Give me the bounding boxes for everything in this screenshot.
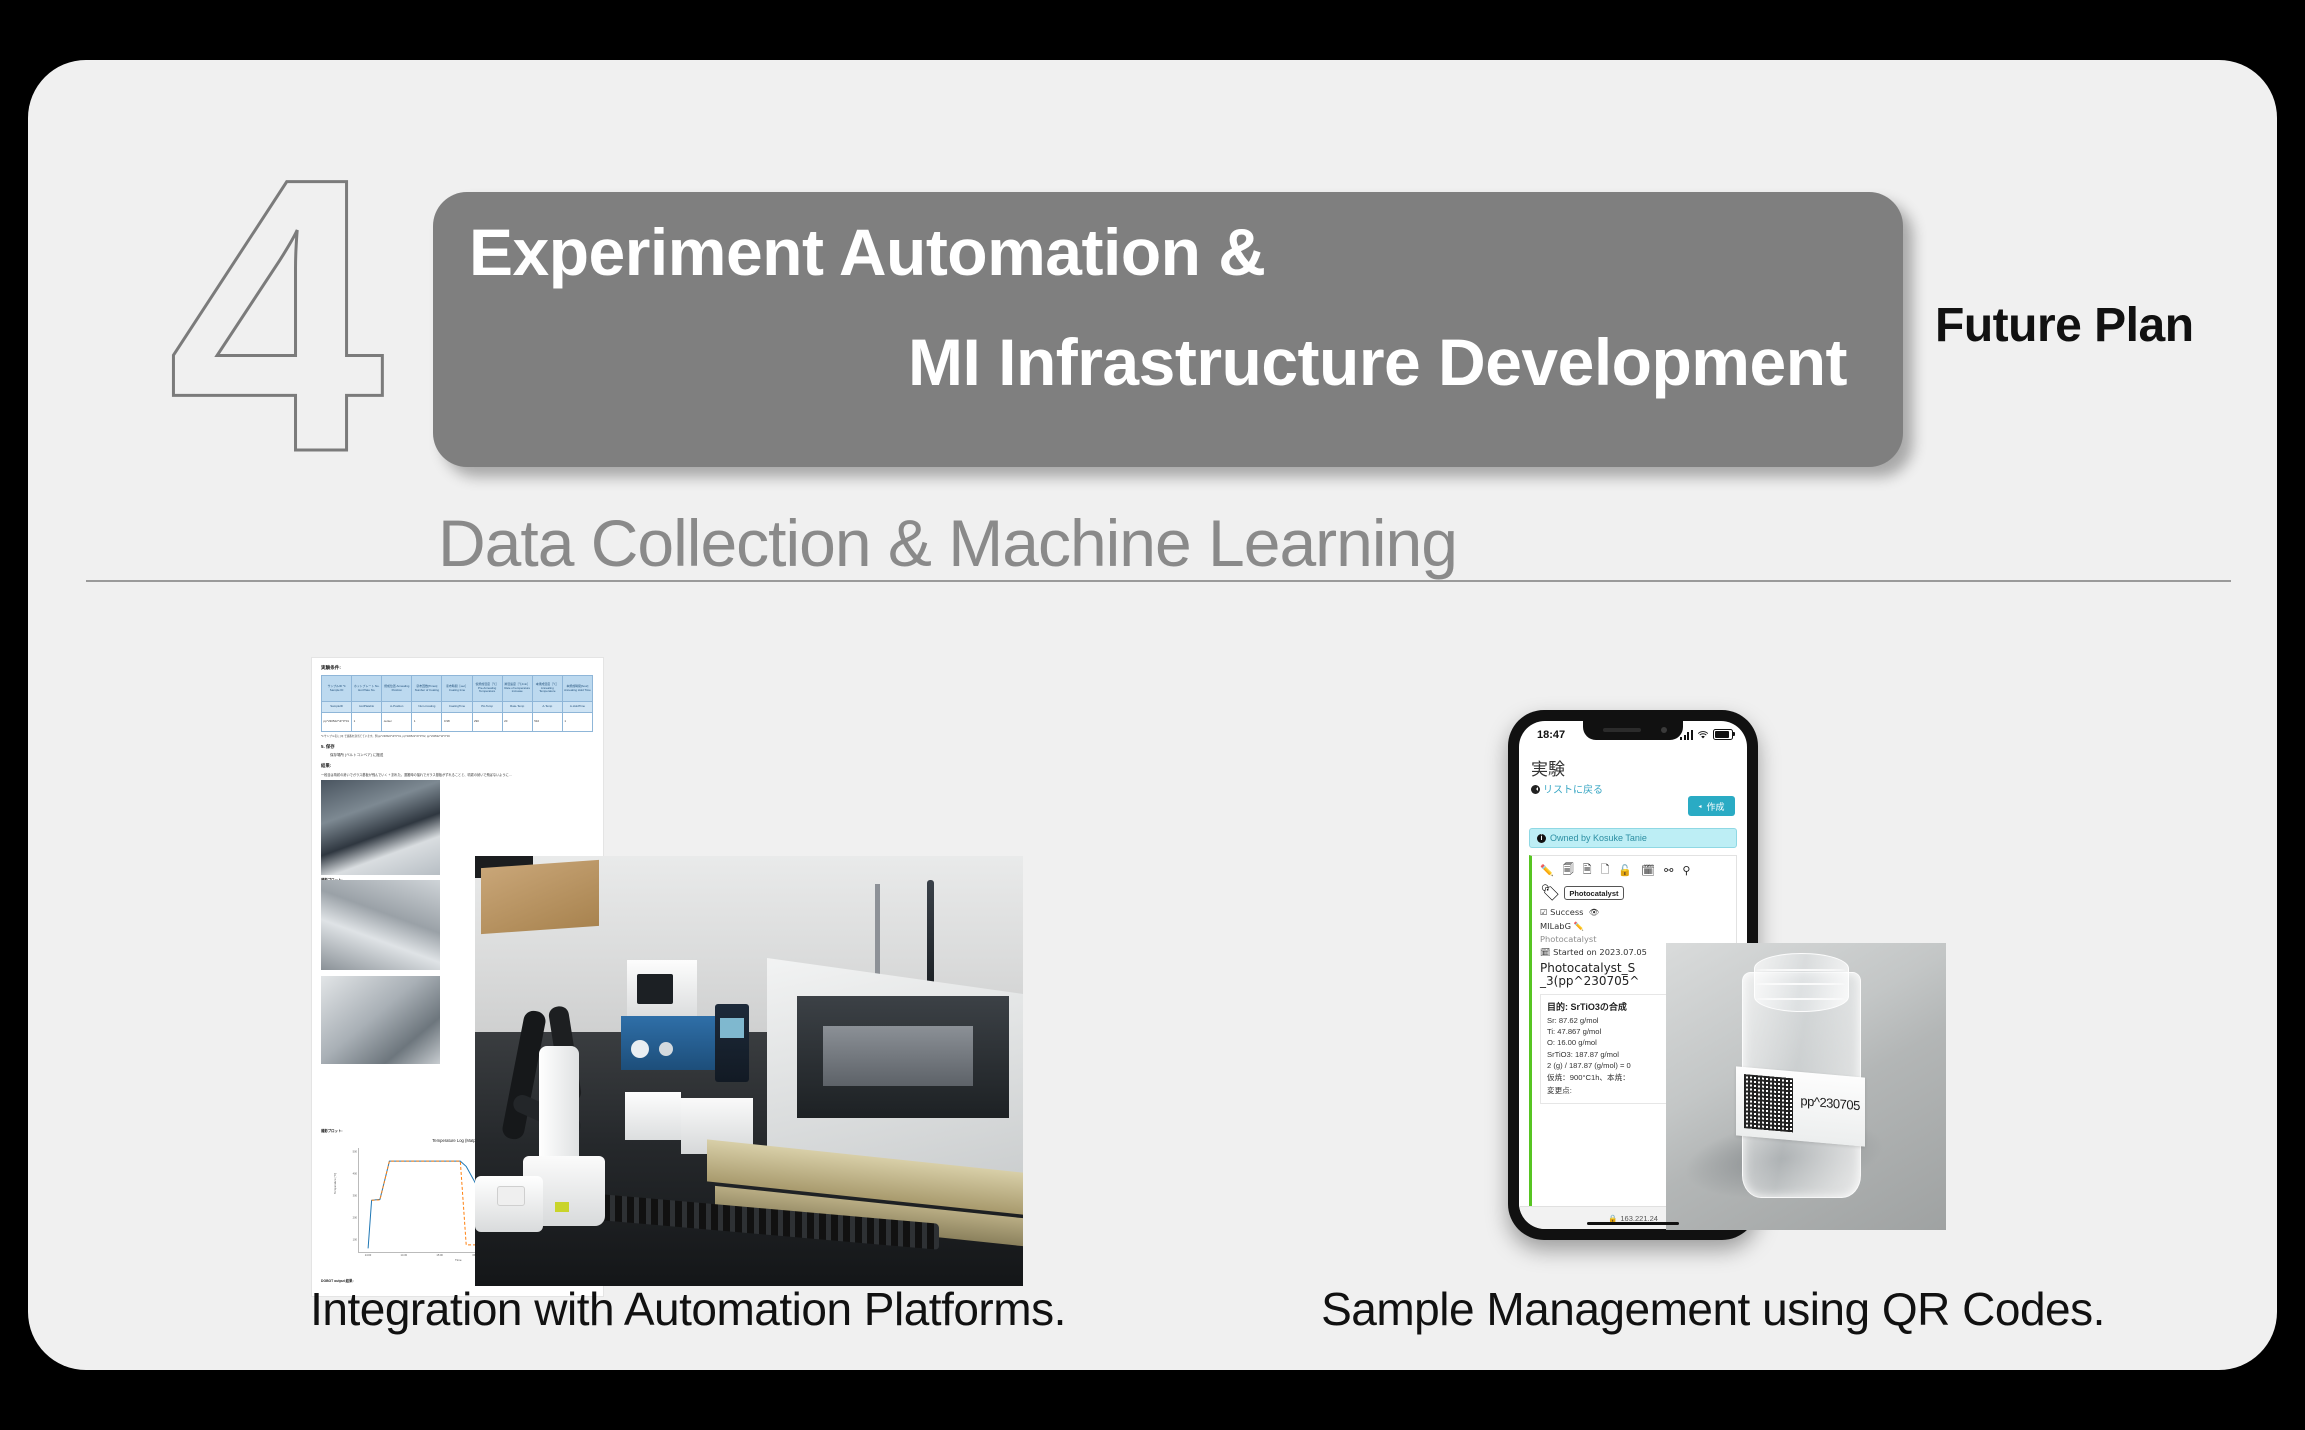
- table-header-cell: 仮焼成温度［℃］ Pre-Annealing Temperature: [472, 676, 502, 702]
- table-row: pp^230522^dt^0^01 1 center 1 0.98 290 20…: [322, 713, 593, 732]
- table-key-cell: PA-Temp: [472, 702, 502, 713]
- document-photo-instrument: [321, 780, 440, 875]
- photo-cardboard-box: [481, 860, 599, 934]
- table-header-cell: 本焼成温度［℃］ Annealing Temperature: [532, 676, 562, 702]
- status-time: 18:47: [1537, 729, 1565, 741]
- record-group-label: MILabG: [1540, 921, 1571, 931]
- back-to-list-link[interactable]: リストに戻る: [1531, 781, 1603, 796]
- table-cell: 1: [562, 713, 592, 732]
- table-header-cell: 本焼成時間[hour] Annealing Hold Time: [562, 676, 592, 702]
- photo-white-block-1: [625, 1092, 681, 1140]
- page-title: 実験: [1531, 755, 1565, 780]
- tag-row: 🏷 Photocatalyst: [1540, 883, 1728, 903]
- vial-label-text: pp^230705: [1800, 1093, 1859, 1113]
- table-header-cell: 塗布時間［sec］ Coating time: [442, 676, 472, 702]
- title-box: Experiment Automation & MI Infrastructur…: [433, 192, 1903, 467]
- chart-ytick: 100: [353, 1238, 357, 1241]
- chart-xtick: 14:00: [365, 1254, 372, 1257]
- table-footnote: *4 サンプル名に [0] で連番を割当てています。例:pp^230522^dt…: [321, 734, 596, 738]
- copy-icon[interactable]: 🗐: [1563, 861, 1574, 880]
- table-header-cell: ホットプレート No. Hot Plate No.: [352, 676, 382, 702]
- chart-ylabel: Temperature [°C]: [333, 1173, 337, 1194]
- table-key-cell: Num-Coating: [412, 702, 442, 713]
- back-to-list-label: リストに戻る: [1543, 785, 1603, 796]
- photo-meter-screen: [720, 1018, 744, 1038]
- info-icon: i: [1537, 834, 1546, 843]
- section-title-save: 5. 保存: [321, 744, 335, 750]
- chart-ytick: 300: [353, 1194, 357, 1197]
- table-key-cell: A-Position: [382, 702, 412, 713]
- table-header-cell: 焼成位置 Annealing Position: [382, 676, 412, 702]
- slide-canvas: 4 Experiment Automation & MI Infrastruct…: [28, 60, 2277, 1370]
- slide-subtitle: Data Collection & Machine Learning: [438, 505, 1457, 581]
- document-heading: 実験条件:: [321, 665, 341, 671]
- sample-vial-photo: pp^230705: [1666, 943, 1946, 1230]
- table-header-cell: サンプルID *4 Sample ID: [322, 676, 352, 702]
- title-line-2: MI Infrastructure Development: [469, 324, 1869, 400]
- document-photo-tray: [321, 976, 440, 1064]
- header-divider: [86, 580, 2231, 582]
- table-cell: 290: [472, 713, 502, 732]
- phone-notch: [1583, 721, 1683, 740]
- photo-blue-controller: [621, 1016, 725, 1070]
- table-key-cell: A-Temp: [532, 702, 562, 713]
- record-group: MILabG ✏️: [1540, 921, 1728, 932]
- section-title-result: 結果:: [321, 763, 331, 769]
- photo-arm-indicator: [555, 1202, 569, 1212]
- table-header-row: サンプルID *4 Sample ID ホットプレート No. Hot Plat…: [322, 676, 593, 702]
- vial-thread: [1756, 998, 1846, 1000]
- tag-chip[interactable]: Photocatalyst: [1564, 886, 1623, 900]
- wifi-icon: [1697, 730, 1709, 740]
- file-icon[interactable]: 🗋: [1601, 861, 1610, 880]
- photo-gauge: [631, 1040, 649, 1058]
- lab-automation-photo: [475, 856, 1023, 1286]
- photo-knob: [659, 1042, 673, 1056]
- qr-code-icon: [1744, 1074, 1793, 1132]
- table-key-cell: SampleID: [322, 702, 352, 713]
- vial-label: pp^230705: [1736, 1067, 1865, 1147]
- battery-icon: [1713, 729, 1733, 740]
- slide-number: 4: [133, 150, 413, 480]
- chart-ytick: 500: [353, 1151, 357, 1154]
- table-cell: 1: [352, 713, 382, 732]
- photo-arm-column: [539, 1046, 579, 1166]
- table-header-cell: 塗布回数[Times] Number of Coating: [412, 676, 442, 702]
- plot-caption: 撮影プロット:: [321, 1128, 342, 1133]
- tag-icon: 🏷: [1540, 883, 1560, 903]
- record-started-label: Started on 2023.07.05: [1553, 947, 1647, 957]
- table-header-cell: 昇温速度［℃/min］ Rate of temperature increase: [502, 676, 532, 702]
- title-line-1: Experiment Automation &: [469, 214, 1869, 290]
- photo-furnace: [797, 996, 1009, 1118]
- record-status: ☑ Success 👁: [1540, 907, 1728, 918]
- future-plan-badge: Future Plan: [1935, 298, 2194, 353]
- table-cell: 1: [412, 713, 442, 732]
- document-photo-sample-bag: [321, 880, 440, 970]
- chart-xlabel: Time: [455, 1258, 462, 1262]
- create-button[interactable]: ◂ 作成: [1688, 796, 1735, 816]
- table-cell: center: [382, 713, 412, 732]
- section-bullet-save: 保存場所 (ベルトコンベア) に搬送: [330, 753, 383, 758]
- photo-instrument-screen: [637, 974, 673, 1004]
- calendar-check-icon[interactable]: 🗓: [1641, 864, 1655, 877]
- pdf-icon[interactable]: 🗎: [1583, 861, 1592, 880]
- owner-banner: i Owned by Kosuke Tanie: [1529, 828, 1737, 848]
- pencil-icon[interactable]: ✏️: [1540, 864, 1554, 877]
- chart-xtick: 15:00: [436, 1254, 443, 1257]
- pin-icon[interactable]: ⚲: [1682, 864, 1690, 877]
- caption-right: Sample Management using QR Codes.: [1218, 1282, 2208, 1336]
- table-key-cell: Rate-Temp: [502, 702, 532, 713]
- home-indicator: [1587, 1222, 1679, 1225]
- chart-ytick: 200: [353, 1216, 357, 1219]
- create-button-label: 作成: [1707, 800, 1725, 813]
- caption-left: Integration with Automation Platforms.: [188, 1282, 1188, 1336]
- phone-camera-icon: [1661, 727, 1667, 733]
- table-cell: pp^230522^dt^0^01: [322, 713, 352, 732]
- caret-left-icon: ◂: [1698, 803, 1701, 810]
- chart-ytick: 400: [353, 1173, 357, 1176]
- table-key-cell: HotPlateNo: [352, 702, 382, 713]
- photo-furnace-interior: [823, 1026, 973, 1086]
- record-status-label: Success: [1550, 907, 1583, 917]
- table-key-cell: CoatingTime: [442, 702, 472, 713]
- status-indicators: [1680, 729, 1733, 740]
- unlock-icon[interactable]: 🔓: [1618, 864, 1632, 877]
- back-arrow-icon: [1531, 785, 1540, 794]
- share-icon[interactable]: ⚯: [1664, 864, 1673, 877]
- table-cell: 20: [502, 713, 532, 732]
- photo-controller-button: [497, 1186, 525, 1206]
- owner-banner-text: Owned by Kosuke Tanie: [1550, 833, 1647, 843]
- photo-controller-box: [475, 1176, 543, 1232]
- record-toolbar: ✏️ 🗐 🗎 🗋 🔓 🗓 ⚯ ⚲: [1540, 862, 1728, 878]
- table-cell: 0.98: [442, 713, 472, 732]
- table-cell: 510: [532, 713, 562, 732]
- chart-xtick: 14:30: [401, 1254, 408, 1257]
- experiment-conditions-table: サンプルID *4 Sample ID ホットプレート No. Hot Plat…: [321, 675, 593, 732]
- phone-speaker: [1603, 728, 1641, 732]
- photo-handheld-meter: [715, 1004, 749, 1082]
- table-key-row: SampleID HotPlateNo A-Position Num-Coati…: [322, 702, 593, 713]
- table-key-cell: A-HoldTime: [562, 702, 592, 713]
- section-body-result: 一段目は噴射の勢いでガラス基板が飛んでいく + 割れた。運搬時の揺れでガラス基板…: [321, 772, 597, 777]
